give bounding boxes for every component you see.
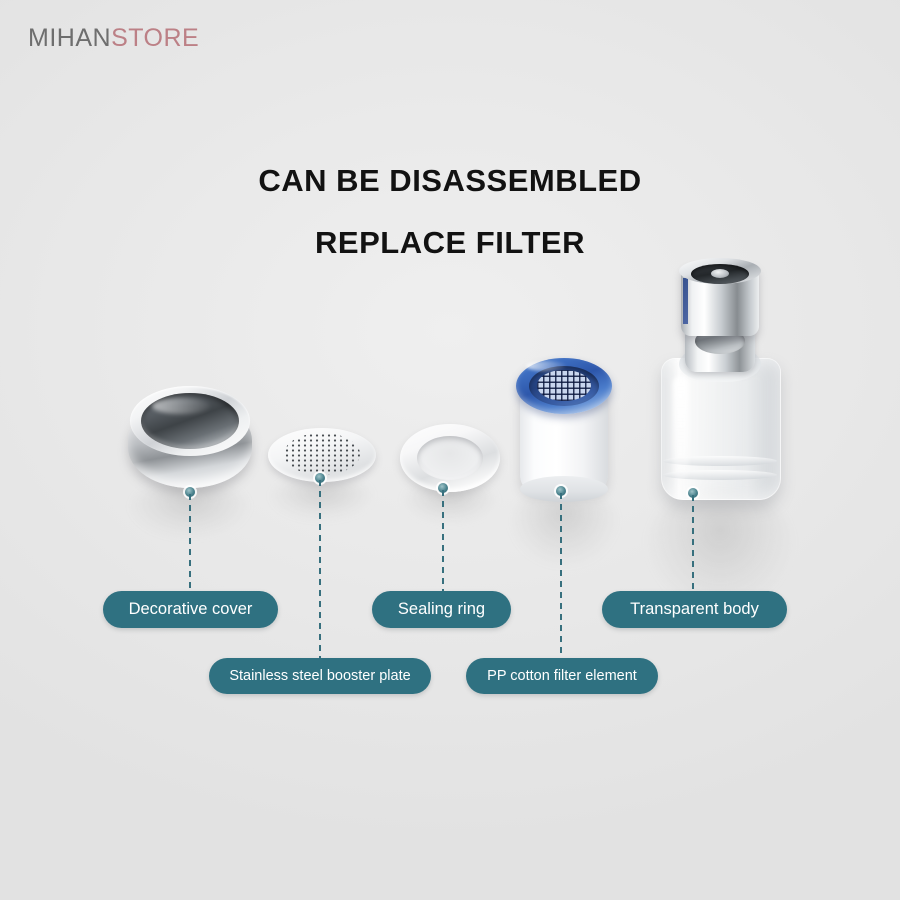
brand-name-primary: MIHAN xyxy=(28,24,111,52)
label-text-sealing-ring: Sealing ring xyxy=(398,600,485,619)
connector-line-booster-plate xyxy=(319,480,321,658)
label-sealing-ring[interactable]: Sealing ring xyxy=(372,591,511,628)
connector-line-transparent-body xyxy=(692,495,694,593)
filter-cap-highlight xyxy=(526,361,566,371)
connector-line-decorative-cover xyxy=(189,494,191,594)
brand-name-secondary: STORE xyxy=(111,24,199,52)
label-text-transparent-body: Transparent body xyxy=(630,600,759,619)
part-sealing-ring xyxy=(400,424,500,496)
cover-highlight xyxy=(152,398,210,414)
connector-line-sealing-ring xyxy=(442,490,444,594)
part-pp-cotton-filter xyxy=(516,358,612,502)
plate-perforations xyxy=(284,433,360,475)
label-decorative-cover[interactable]: Decorative cover xyxy=(103,591,278,628)
label-stainless-booster-plate[interactable]: Stainless steel booster plate xyxy=(209,658,431,694)
reflection-transparent-body xyxy=(648,488,792,608)
label-transparent-body[interactable]: Transparent body xyxy=(602,591,787,628)
headline-secondary: REPLACE FILTER xyxy=(0,225,900,261)
part-decorative-cover xyxy=(128,386,252,498)
ring-opening xyxy=(417,436,483,480)
collar-blue-accent xyxy=(683,278,688,324)
filter-cap-grid xyxy=(537,370,591,401)
headline-primary: CAN BE DISASSEMBLED xyxy=(0,163,900,199)
label-text-decorative-cover: Decorative cover xyxy=(129,600,253,619)
part-transparent-body xyxy=(655,258,785,504)
product-infographic: MIHANSTORE CAN BE DISASSEMBLED REPLACE F… xyxy=(0,0,900,900)
connector-line-pp-cotton-filter xyxy=(560,493,562,660)
label-text-pp-cotton-filter: PP cotton filter element xyxy=(487,668,637,684)
body-highlight xyxy=(673,376,689,480)
brand-logo: MIHANSTORE xyxy=(28,24,199,53)
label-pp-cotton-filter[interactable]: PP cotton filter element xyxy=(466,658,658,694)
label-text-stainless-booster-plate: Stainless steel booster plate xyxy=(229,668,410,684)
collar-center-nub xyxy=(711,269,729,278)
